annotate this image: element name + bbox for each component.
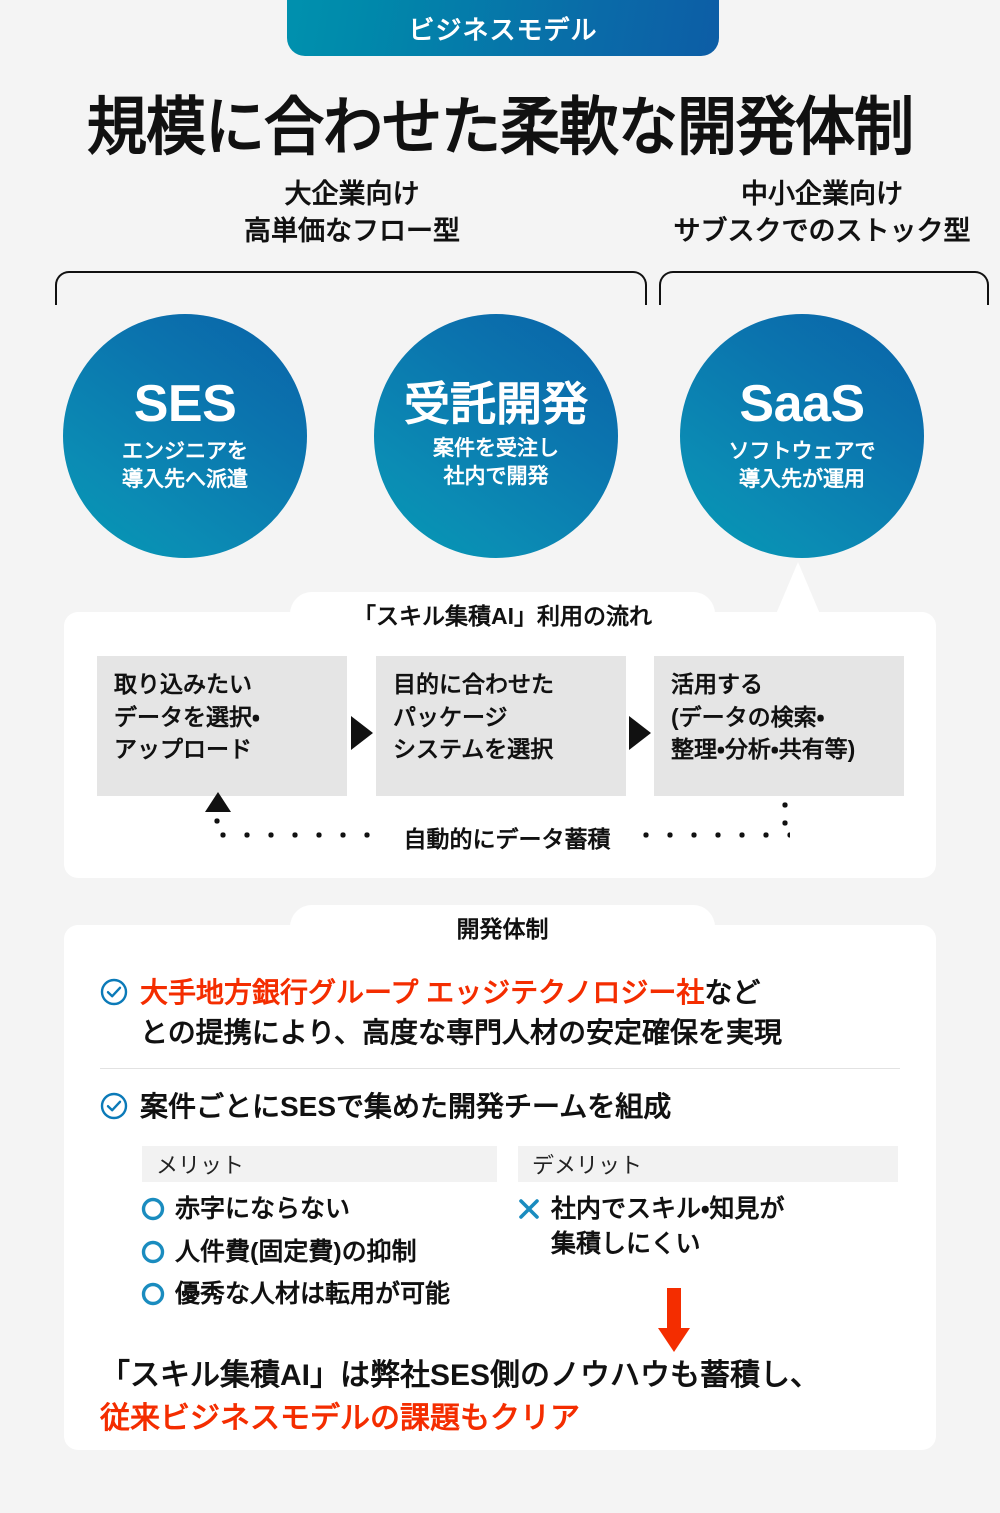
circle-title: 受託開発 [404, 381, 588, 427]
circle-title: SES [134, 378, 237, 430]
page-title: 規模に合わせた柔軟な開発体制 [0, 76, 1000, 168]
merit-list: 赤字にならない 人件費(固定費)の抑制 優秀な人材は転用が可能 [140, 1192, 510, 1320]
merit-label: 赤字にならない [175, 1192, 350, 1227]
dev-divider [100, 1068, 900, 1069]
circle-subtitle: エンジニアを 導入先へ派遣 [122, 438, 248, 493]
merit-list-item: 人件費(固定費)の抑制 [140, 1235, 510, 1270]
feedback-loop-label: 自動的にデータ蓄積 [380, 820, 634, 854]
check-circle-icon [100, 978, 128, 1006]
merit-list-item: 赤字にならない [140, 1192, 510, 1227]
merit-label: 優秀な人材は転用が可能 [175, 1277, 450, 1312]
segment-heading-large-enterprise: 大企業向け 高単価なフロー型 [52, 176, 652, 251]
feedback-dotted-left [211, 832, 379, 838]
feedback-dotted-vertical [782, 796, 788, 836]
cross-icon [516, 1196, 542, 1224]
dev-panel-title: 開発体制 [290, 905, 715, 949]
flow-step-3: 活用する (データの検索・ 整理・分析・共有等) [654, 656, 904, 796]
circle-subtitle: ソフトウェアで 導入先が運用 [729, 438, 876, 493]
segment-heading-line1: 中小企業向け [646, 176, 998, 213]
check-circle-icon [100, 1092, 128, 1120]
dev-check-rest-1: など [704, 977, 760, 1008]
demerit-list: 社内でスキル・知見が 集積しにくい [516, 1192, 896, 1269]
callout-pointer-icon [776, 562, 820, 614]
dev-check-item-1: 大手地方銀行グループ エッジテクノロジー社など との提携により、高度な専門人材の… [100, 973, 900, 1053]
segment-heading-line1: 大企業向け [52, 176, 652, 213]
business-circle-contract-dev: 受託開発 案件を受注し 社内で開発 [374, 314, 618, 558]
feedback-dotted-right [634, 832, 790, 838]
flow-step-1: 取り込みたい データを選択・ アップロード [97, 656, 347, 796]
bracket-right [659, 271, 989, 305]
flow-panel-title: 「スキル集積AI」利用の流れ [290, 592, 715, 636]
circle-title: SaaS [739, 378, 864, 430]
dev-check-line2-1: との提携により、高度な専門人材の安定確保を実現 [140, 1017, 782, 1048]
merit-header: メリット [142, 1146, 497, 1182]
circle-outline-icon [140, 1281, 166, 1309]
flow-step-2: 目的に合わせた パッケージ システムを選択 [376, 656, 626, 796]
circle-outline-icon [140, 1239, 166, 1267]
triangle-right-icon [351, 716, 373, 750]
triangle-right-icon [629, 716, 651, 750]
business-circle-ses: SES エンジニアを 導入先へ派遣 [63, 314, 307, 558]
segment-heading-line2: 高単価なフロー型 [52, 213, 652, 250]
conclusion-text: 「スキル集積AI」は弊社SES側のノウハウも蓄積し、 従来ビジネスモデルの課題も… [100, 1355, 920, 1440]
category-badge: ビジネスモデル [287, 0, 719, 56]
bracket-left [55, 271, 647, 305]
business-circle-saas: SaaS ソフトウェアで 導入先が運用 [680, 314, 924, 558]
segment-heading-smb: 中小企業向け サブスクでのストック型 [646, 176, 998, 251]
demerit-header: デメリット [518, 1146, 898, 1182]
merit-list-item: 優秀な人材は転用が可能 [140, 1277, 510, 1312]
infographic-page: ビジネスモデル 規模に合わせた柔軟な開発体制 大企業向け 高単価なフロー型 中小… [0, 0, 1000, 1513]
triangle-up-icon [205, 792, 231, 812]
dev-check-item-2: 案件ごとにSESで集めた開発チームを組成 [100, 1087, 900, 1127]
merit-label: 人件費(固定費)の抑制 [175, 1235, 417, 1270]
demerit-list-item: 社内でスキル・知見が 集積しにくい [516, 1192, 896, 1261]
conclusion-line-1: 「スキル集積AI」は弊社SES側のノウハウも蓄積し、 [100, 1359, 820, 1392]
dev-check-text-1: 大手地方銀行グループ エッジテクノロジー社など との提携により、高度な専門人材の… [140, 973, 782, 1053]
circle-outline-icon [140, 1196, 166, 1224]
conclusion-line-2: 従来ビジネスモデルの課題もクリア [100, 1398, 920, 1441]
category-badge-label: ビジネスモデル [408, 10, 597, 47]
circle-subtitle: 案件を受注し 社内で開発 [433, 435, 559, 490]
demerit-label: 社内でスキル・知見が 集積しにくい [551, 1192, 785, 1261]
feedback-dotted-stub [214, 812, 220, 834]
dev-check-text-2: 案件ごとにSESで集めた開発チームを組成 [140, 1087, 671, 1127]
dev-check-highlight-1: 大手地方銀行グループ エッジテクノロジー社 [140, 977, 704, 1008]
segment-heading-line2: サブスクでのストック型 [646, 213, 998, 250]
